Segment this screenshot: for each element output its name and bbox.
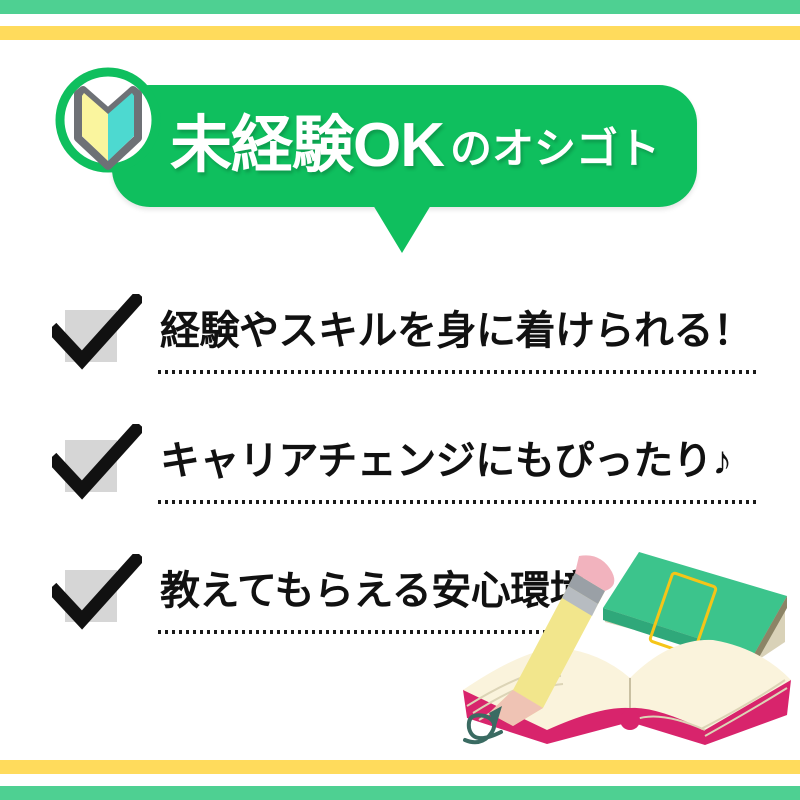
books-and-pencil-illustration [455, 530, 800, 760]
header-title: 未経験OK のオシゴト [170, 85, 660, 207]
decor-band-bottom-yellow [0, 760, 800, 774]
checklist-item-1[interactable]: 経験やスキルを身に着けられる！ [0, 288, 800, 398]
decor-band-top-yellow [0, 26, 800, 40]
dotted-rule [158, 500, 758, 504]
check-icon [52, 424, 142, 504]
decor-band-bottom-green [0, 786, 800, 800]
checklist-item-2[interactable]: キャリアチェンジにもぴったり♪ [0, 418, 800, 528]
poster-canvas: 未経験OK のオシゴト 経験やスキルを身に着けられる！ キャリアチェンジにもぴっ… [0, 0, 800, 800]
wakaba-young-leaf-icon [55, 66, 161, 180]
check-icon [52, 554, 142, 634]
speech-bubble-tail [373, 205, 431, 253]
decor-band-top-green [0, 0, 800, 14]
dotted-rule [158, 370, 758, 374]
check-icon [52, 294, 142, 374]
checklist-label: キャリアチェンジにもぴったり♪ [160, 418, 732, 496]
page-title: 未経験OK [170, 115, 444, 177]
page-title-sub: のオシゴト [450, 128, 660, 170]
book-spine-knot [620, 710, 640, 730]
checklist-label: 経験やスキルを身に着けられる！ [160, 288, 753, 366]
